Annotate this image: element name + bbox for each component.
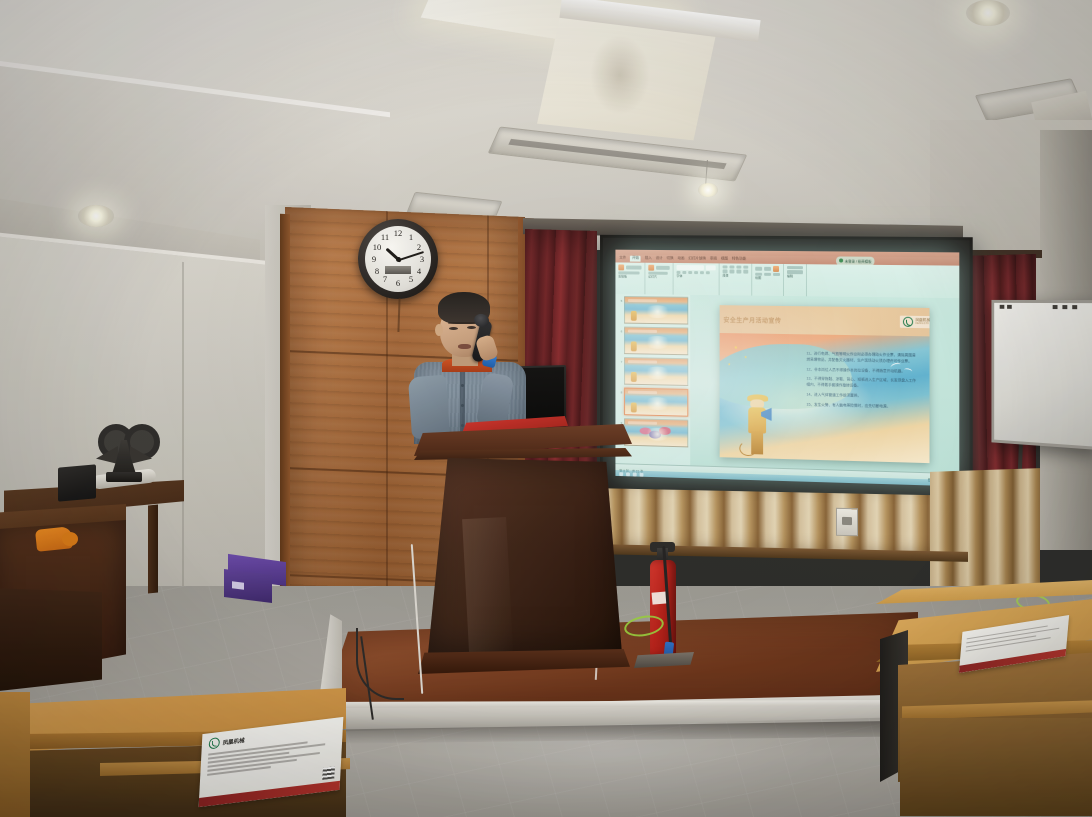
shirt-button (461, 404, 464, 407)
clock-numeral: 3 (416, 255, 428, 264)
wall-clock: 12 1 2 3 4 5 6 7 8 9 10 11 (358, 219, 438, 299)
ribbon-tab-features[interactable]: 特色功能 (732, 258, 746, 262)
ceiling-water-stain (590, 35, 650, 115)
presenter-ear (435, 324, 443, 336)
logo-text-en: FENGCHI (915, 323, 929, 326)
wall-socket[interactable] (836, 508, 858, 536)
extinguisher-base-plate (634, 652, 694, 668)
ribbon-tab-home[interactable]: 开始 (630, 256, 641, 262)
metal-sculpture (98, 424, 150, 486)
presenter-eye (467, 326, 476, 329)
ribbon-group-label: 字体 (677, 275, 716, 278)
projection-screen: 文件 开始 插入 设计 切换 动画 幻灯片放映 审阅 视图 特色功能 未登录 /… (600, 235, 973, 504)
ribbon-tab-view[interactable]: 视图 (721, 258, 728, 262)
star-icon (734, 345, 738, 349)
dark-bench-left (0, 588, 102, 692)
ribbon-tab-animation[interactable]: 动画 (677, 257, 684, 261)
slide-body: 11、进行电焊、气割等明火作业时必须办理动火作业票，清除周围易燃易爆物品，并配备… (720, 333, 930, 463)
orange-tool-head (62, 532, 78, 546)
side-table-leg (148, 504, 158, 593)
powerpoint-workspace: 5 6 7 8 9 (615, 294, 959, 474)
current-slide[interactable]: 安全生产月活动宣传 凤凰机械 FENGCHI (720, 306, 930, 463)
ribbon-tab-insert[interactable]: 插入 (645, 257, 652, 261)
slide-paragraph: 14、进入气体管道工作前须置换。 (806, 392, 916, 400)
slide-thumbnail[interactable] (624, 296, 689, 325)
slide-paragraph: 12、非本岗位人员不得操作本岗位设备，不得随意开动机器。 (806, 367, 916, 375)
ribbon-group-font[interactable]: 字体 (674, 263, 720, 295)
ribbon-group-label: 剪贴板 (618, 276, 641, 279)
slide-thumbnail[interactable] (624, 357, 689, 386)
ribbon-group-clipboard[interactable]: 剪贴板 (615, 262, 645, 294)
black-equipment-box (58, 464, 96, 501)
thumbnail-number: 6 (618, 326, 622, 333)
pendant-light (698, 183, 718, 197)
ceiling-downlight (966, 0, 1010, 26)
foreground-desk-right-lower (900, 718, 1092, 816)
clock-numeral: 7 (379, 275, 391, 284)
ceiling-downlight (78, 205, 114, 227)
ribbon-group-label: 编辑 (787, 275, 803, 278)
slide-paragraph: 11、进行电焊、气割等明火作业时必须办理动火作业票，清除周围易燃易爆物品，并配备… (806, 352, 916, 365)
thumbnail-number: 7 (618, 357, 622, 364)
clock-numeral: 6 (392, 279, 404, 288)
ribbon-tab-slideshow[interactable]: 幻灯片放映 (688, 257, 706, 261)
shape-fill-icon[interactable] (773, 266, 779, 272)
qr-code-icon (322, 766, 335, 780)
clock-face: 12 1 2 3 4 5 6 7 8 9 10 11 (365, 226, 431, 292)
clock-numeral: 10 (371, 243, 383, 252)
slide-thumbnail[interactable] (624, 327, 689, 356)
ribbon-group-drawing[interactable]: 绘图 (752, 264, 784, 296)
podium-highlight (462, 517, 514, 669)
browser-icon[interactable] (633, 472, 637, 476)
figure-body (748, 407, 765, 434)
purple-box-label (232, 581, 244, 589)
foreground-chair-left (0, 692, 30, 817)
podium (420, 424, 632, 682)
paste-icon[interactable] (618, 264, 624, 270)
slide-paragraph: 15、发生火警、有人触电等险情时，应先切断电源。 (806, 402, 916, 410)
thumbnail-number: 5 (618, 296, 622, 303)
slide-title: 安全生产月活动宣传 (723, 315, 781, 325)
account-label[interactable]: 未登录 / 稻壳模板 (845, 258, 872, 263)
striped-wall-panel-right (930, 468, 1040, 592)
wall-seam (182, 262, 184, 592)
slide-text-block: 11、进行电焊、气割等明火作业时必须办理动火作业票，清除周围易燃易爆物品，并配备… (806, 352, 916, 455)
ribbon-tab-file[interactable]: 文件 (619, 257, 626, 261)
ribbon-group-editing[interactable]: 编辑 (784, 264, 807, 296)
ribbon-tab-design[interactable]: 设计 (656, 257, 663, 261)
slide-editing-pane[interactable]: 安全生产月活动宣传 凤凰机械 FENGCHI (691, 295, 960, 474)
ribbon-tab-transition[interactable]: 切换 (667, 257, 674, 261)
ribbon-group-label: 幻灯片 (648, 276, 669, 279)
ribbon-tab-review[interactable]: 审阅 (710, 258, 717, 262)
presenter-eye (449, 327, 458, 330)
thumbnail-row[interactable]: 8 (618, 387, 688, 416)
ribbon-group-label: 段落 (723, 274, 749, 277)
clock-numeral: 9 (368, 255, 380, 264)
shirt-button (461, 384, 464, 387)
leaf-logo-icon (209, 737, 221, 749)
podium-body (426, 458, 622, 654)
worker-illustration (744, 394, 771, 454)
ribbon-group-paragraph[interactable]: 段落 (720, 263, 753, 295)
thumbnail-row[interactable]: 6 (618, 326, 688, 355)
flip-chart-whiteboard (991, 300, 1092, 450)
company-logo: 凤凰机械 FENGCHI (900, 316, 929, 329)
ribbon-group-label: 绘图 (755, 277, 780, 280)
powerpoint-taskbar-icon[interactable] (640, 472, 644, 476)
slide-title-bar: 安全生产月活动宣传 凤凰机械 FENGCHI (720, 306, 930, 337)
fire-extinguisher (640, 530, 686, 670)
leaf-logo-icon (903, 317, 913, 327)
thumbnail-row[interactable]: 7 (618, 357, 688, 386)
figure-cable (739, 441, 757, 457)
clock-numeral: 1 (405, 233, 417, 242)
sculpture-base (106, 472, 142, 482)
slide-thumbnail[interactable] (624, 418, 689, 447)
thumbnail-row[interactable]: 5 (618, 296, 688, 325)
clock-numeral: 5 (405, 275, 417, 284)
clock-numeral: 12 (392, 229, 404, 238)
slide-thumbnail-selected[interactable] (624, 388, 689, 417)
clock-brand-plate (385, 266, 411, 274)
presenter-brow (448, 322, 476, 324)
presenter-mouth (458, 344, 471, 349)
account-icon[interactable] (839, 258, 843, 262)
conference-room-photo: 12 1 2 3 4 5 6 7 8 9 10 11 文件 开始 (0, 0, 1092, 817)
clock-numeral: 11 (379, 233, 391, 242)
projection-surface: 文件 开始 插入 设计 切换 动画 幻灯片放映 审阅 视图 特色功能 未登录 /… (615, 250, 959, 487)
handout-title: 凤凰机械 (223, 735, 245, 746)
slide-paragraph: 13、不得穿拖鞋、凉鞋、背心、短裤进入生产区域，长发须盘入工作帽内，不得戴手套操… (806, 377, 916, 390)
clock-center-pin (396, 257, 401, 262)
new-slide-icon[interactable] (648, 265, 654, 271)
clock-numeral: 8 (371, 267, 383, 276)
presenter (404, 292, 532, 442)
thumbnail-number: 8 (618, 387, 622, 394)
ribbon-group-slides[interactable]: 幻灯片 (645, 263, 673, 295)
